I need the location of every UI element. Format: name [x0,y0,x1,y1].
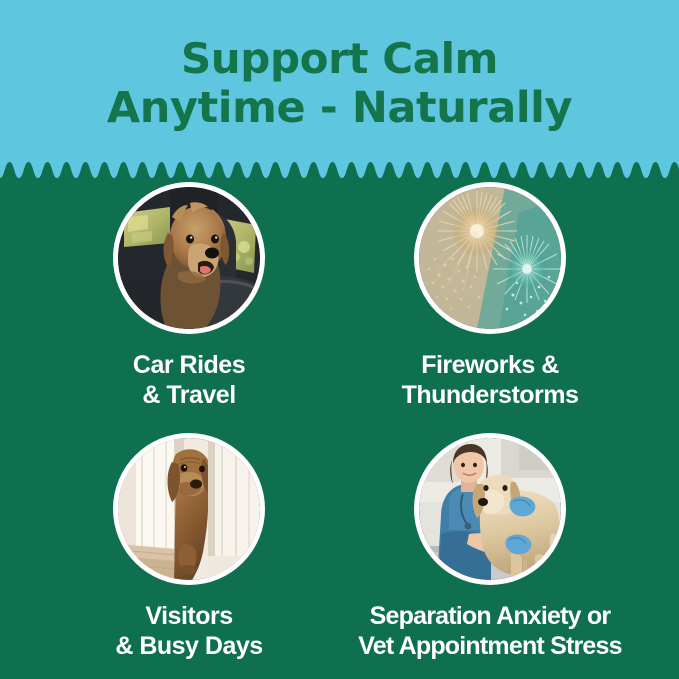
feature-fireworks: Fireworks & Thunderstorms [340,182,640,410]
feature-image-ring [113,433,265,585]
feature-image-ring [113,182,265,334]
feature-label-line-2: Vet Appointment Stress [320,631,660,661]
feature-label-line-1: Separation Anxiety or [320,601,660,631]
feature-label-line-1: Visitors [39,601,339,631]
feature-label: Visitors & Busy Days [39,601,339,661]
feature-vet-visits: Separation Anxiety or Vet Appointment St… [320,433,660,661]
photo-fireworks [419,187,561,329]
feature-image-ring [414,433,566,585]
promo-poster: Support Calm Anytime - Naturally [0,0,679,679]
feature-car-rides: Car Rides & Travel [39,182,339,410]
photo-dog-at-door [118,438,260,580]
feature-label-line-2: Thunderstorms [340,380,640,410]
feature-label-line-2: & Busy Days [39,631,339,661]
title-line-1: Support Calm [0,34,679,83]
feature-label-line-1: Car Rides [39,350,339,380]
feature-label: Fireworks & Thunderstorms [340,350,640,410]
photo-dog-in-car [118,187,260,329]
page-title: Support Calm Anytime - Naturally [0,34,679,133]
feature-label: Separation Anxiety or Vet Appointment St… [320,601,660,661]
feature-label-line-2: & Travel [39,380,339,410]
photo-vet-with-dog [419,438,561,580]
feature-label-line-1: Fireworks & [340,350,640,380]
feature-grid: Car Rides & Travel [0,178,679,679]
feature-label: Car Rides & Travel [39,350,339,410]
feature-image-ring [414,182,566,334]
feature-visitors: Visitors & Busy Days [39,433,339,661]
title-line-2: Anytime - Naturally [0,83,679,133]
